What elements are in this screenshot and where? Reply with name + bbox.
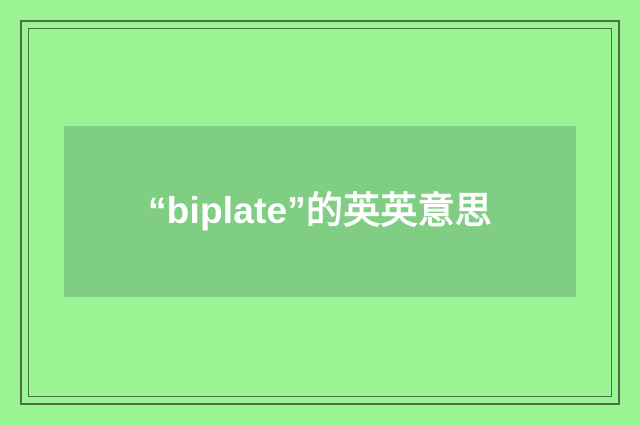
title-card: “biplate”的英英意思 [64,126,576,297]
poster-canvas: “biplate”的英英意思 [0,0,640,425]
headline-text: “biplate”的英英意思 [120,183,520,239]
